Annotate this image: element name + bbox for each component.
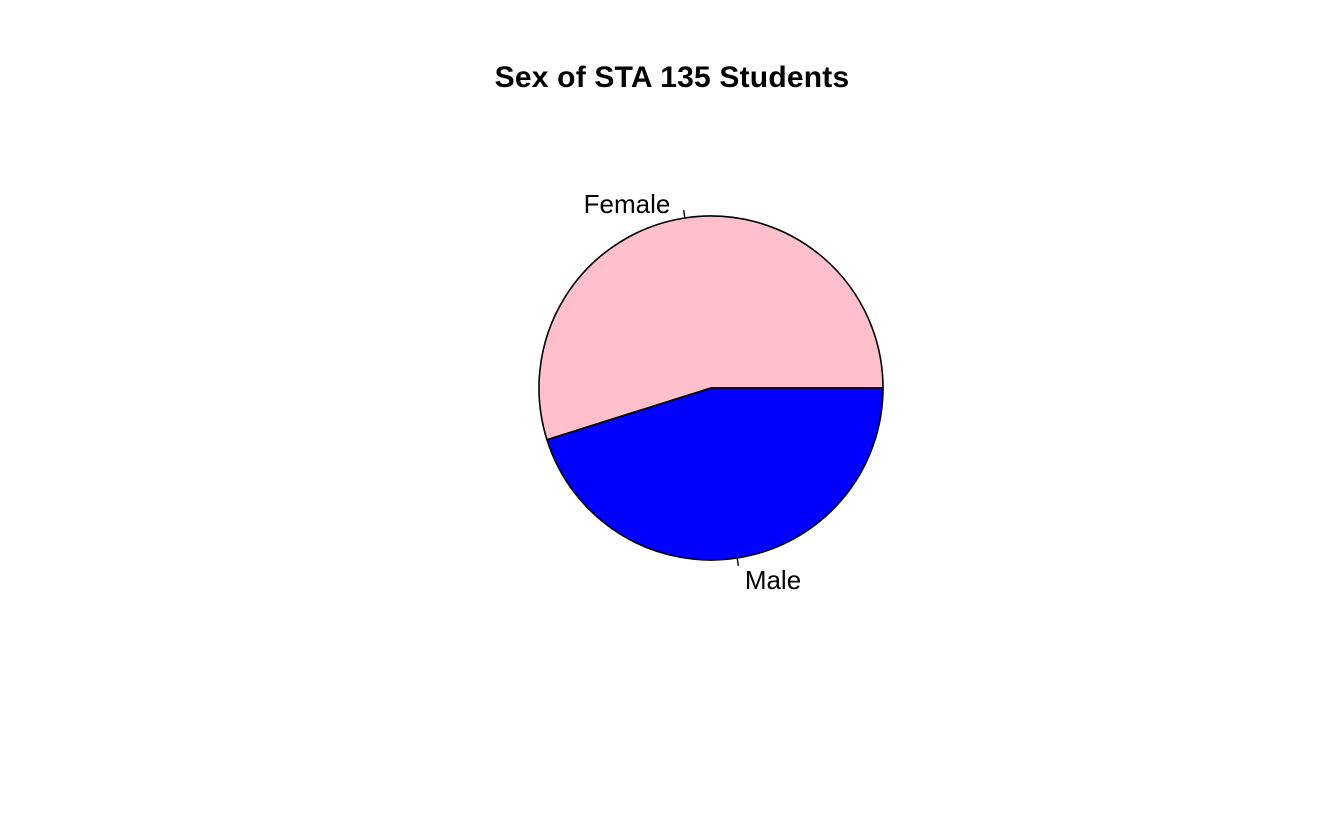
- male-label-tick-icon: [737, 558, 738, 566]
- pie-label-female: Female: [584, 189, 671, 219]
- pie-label-male: Male: [745, 565, 801, 595]
- pie-chart-plot: Sex of STA 135 Students Female Male: [0, 0, 1344, 816]
- female-label-tick-icon: [684, 210, 685, 218]
- pie-chart-canvas: Female Male: [0, 0, 1344, 816]
